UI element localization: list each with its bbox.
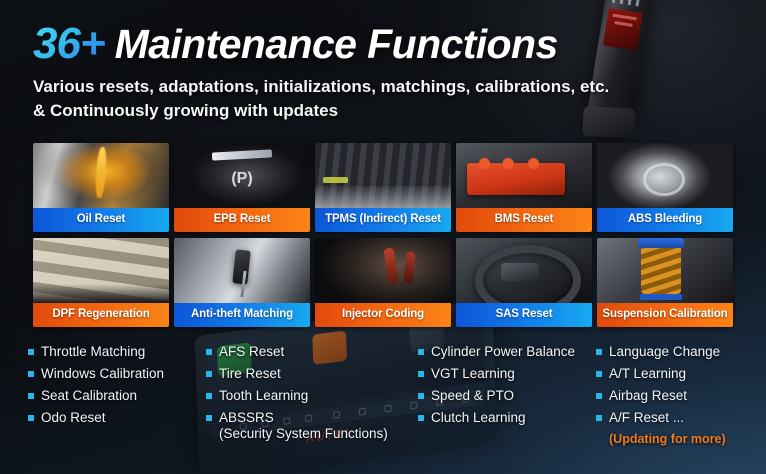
function-card-epb-reset[interactable]: EPB Reset <box>174 143 310 232</box>
function-count: 36+ <box>33 22 105 66</box>
function-card-anti-theft-matching[interactable]: Anti-theft Matching <box>174 238 310 327</box>
function-card-oil-reset[interactable]: Oil Reset <box>33 143 169 232</box>
card-label: Oil Reset <box>33 208 169 232</box>
brake-disc-icon <box>597 143 733 208</box>
list-item-label: Tire Reset <box>219 366 281 382</box>
list-item: Speed & PTO <box>418 388 596 404</box>
function-list-column-3: Cylinder Power Balance VGT Learning Spee… <box>418 344 596 448</box>
card-thumbnail <box>597 143 733 208</box>
list-item: Odo Reset <box>28 410 206 426</box>
device-keypad <box>612 0 644 7</box>
oil-pour-icon <box>33 143 169 208</box>
bullet-square-icon <box>596 349 602 355</box>
list-item: AFS Reset <box>206 344 418 360</box>
card-thumbnail <box>315 143 451 208</box>
list-item: Tire Reset <box>206 366 418 382</box>
list-item: Clutch Learning <box>418 410 596 426</box>
bullet-square-icon <box>418 393 424 399</box>
list-item: A/T Learning <box>596 366 752 382</box>
function-list-column-4: Language Change A/T Learning Airbag Rese… <box>596 344 752 448</box>
card-label: SAS Reset <box>456 303 592 327</box>
list-item: Tooth Learning <box>206 388 418 404</box>
card-label: Anti-theft Matching <box>174 303 310 327</box>
card-thumbnail <box>456 143 592 208</box>
list-item-label: Odo Reset <box>41 410 106 426</box>
bullet-square-icon <box>596 415 602 421</box>
battery-icon <box>456 143 592 208</box>
list-item: ABSSRS (Security System Functions) <box>206 410 418 442</box>
card-thumbnail <box>456 238 592 303</box>
card-thumbnail <box>174 238 310 303</box>
function-list-column-2: AFS Reset Tire Reset Tooth Learning ABSS… <box>206 344 418 448</box>
subtitle: Various resets, adaptations, initializat… <box>33 75 609 123</box>
list-item-label-group: ABSSRS (Security System Functions) <box>219 410 388 442</box>
bullet-square-icon <box>206 393 212 399</box>
list-item: Airbag Reset <box>596 388 752 404</box>
function-card-grid: Oil Reset EPB Reset TPMS (Indirect) Rese… <box>33 143 733 327</box>
page-title: 36+ Maintenance Functions <box>33 22 609 66</box>
list-item: Seat Calibration <box>28 388 206 404</box>
function-card-bms-reset[interactable]: BMS Reset <box>456 143 592 232</box>
poster-canvas: AUTEL 36+ Maintenance Functions Various … <box>0 0 766 474</box>
function-card-abs-bleeding[interactable]: ABS Bleeding <box>597 143 733 232</box>
header: 36+ Maintenance Functions Various resets… <box>33 22 609 123</box>
list-item-label: Throttle Matching <box>41 344 145 360</box>
bullet-square-icon <box>206 415 212 421</box>
list-item-label: Speed & PTO <box>431 388 514 404</box>
bullet-square-icon <box>28 371 34 377</box>
list-item-label: Windows Calibration <box>41 366 164 382</box>
list-item-label: Clutch Learning <box>431 410 526 426</box>
function-list-column-1: Throttle Matching Windows Calibration Se… <box>28 344 206 448</box>
list-item-label: Tooth Learning <box>219 388 308 404</box>
card-label: ABS Bleeding <box>597 208 733 232</box>
steering-wheel-icon <box>456 238 592 303</box>
list-item: A/F Reset ... <box>596 410 752 426</box>
list-item-label: Language Change <box>609 344 720 360</box>
list-item-label: AFS Reset <box>219 344 284 360</box>
bullet-square-icon <box>206 349 212 355</box>
bullet-square-icon <box>418 415 424 421</box>
bullet-square-icon <box>28 349 34 355</box>
function-card-dpf-regeneration[interactable]: DPF Regeneration <box>33 238 169 327</box>
updating-note: (Updating for more) <box>609 432 752 447</box>
list-item: Language Change <box>596 344 752 360</box>
list-item-label: Airbag Reset <box>609 388 687 404</box>
card-thumbnail <box>33 238 169 303</box>
bullet-square-icon <box>596 371 602 377</box>
card-thumbnail <box>315 238 451 303</box>
title-text: Maintenance Functions <box>115 24 558 65</box>
bullet-square-icon <box>418 371 424 377</box>
bullet-square-icon <box>206 371 212 377</box>
function-list-columns: Throttle Matching Windows Calibration Se… <box>28 344 752 448</box>
function-card-suspension-calibration[interactable]: Suspension Calibration <box>597 238 733 327</box>
list-item-label: VGT Learning <box>431 366 515 382</box>
function-card-injector-coding[interactable]: Injector Coding <box>315 238 451 327</box>
coil-spring-icon <box>597 238 733 303</box>
card-label: Injector Coding <box>315 303 451 327</box>
epb-switch-icon <box>174 143 310 208</box>
list-item: VGT Learning <box>418 366 596 382</box>
bullet-square-icon <box>28 415 34 421</box>
subtitle-line-1: Various resets, adaptations, initializat… <box>33 75 609 99</box>
car-key-icon <box>174 238 310 303</box>
list-item-label: Seat Calibration <box>41 388 137 404</box>
bullet-square-icon <box>28 393 34 399</box>
bullet-square-icon <box>418 349 424 355</box>
card-label: TPMS (Indirect) Reset <box>315 208 451 232</box>
card-thumbnail <box>174 143 310 208</box>
list-item: Cylinder Power Balance <box>418 344 596 360</box>
card-thumbnail <box>597 238 733 303</box>
list-item-label: A/F Reset ... <box>609 410 684 426</box>
function-card-tpms-reset[interactable]: TPMS (Indirect) Reset <box>315 143 451 232</box>
list-item-label: ABSSRS <box>219 410 274 425</box>
list-item: Throttle Matching <box>28 344 206 360</box>
tyre-icon <box>315 143 451 208</box>
list-item-label: A/T Learning <box>609 366 686 382</box>
subtitle-line-2: & Continuously growing with updates <box>33 99 609 123</box>
bullet-square-icon <box>596 393 602 399</box>
card-label: EPB Reset <box>174 208 310 232</box>
injector-icon <box>315 238 451 303</box>
card-thumbnail <box>33 143 169 208</box>
list-item-sublabel: (Security System Functions) <box>219 426 388 442</box>
exhaust-manifold-icon <box>33 238 169 303</box>
card-label: BMS Reset <box>456 208 592 232</box>
list-item-label: Cylinder Power Balance <box>431 344 575 360</box>
function-card-sas-reset[interactable]: SAS Reset <box>456 238 592 327</box>
card-label: Suspension Calibration <box>597 303 733 327</box>
card-label: DPF Regeneration <box>33 303 169 327</box>
list-item: Windows Calibration <box>28 366 206 382</box>
